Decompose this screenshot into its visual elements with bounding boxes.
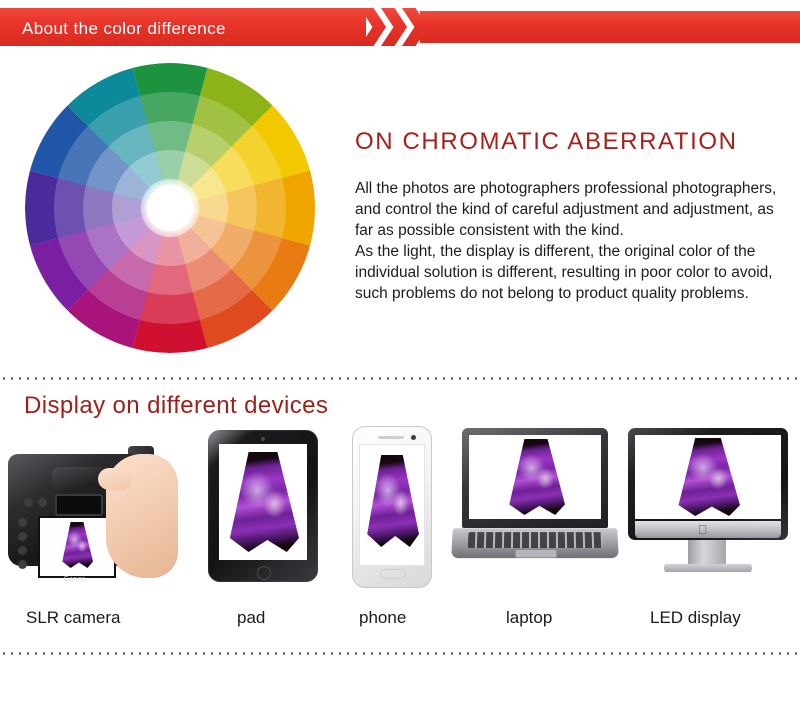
- laptop-screen: [469, 435, 601, 519]
- color-wheel: [25, 63, 315, 353]
- monitor-bezel: : [628, 428, 788, 540]
- dslr-camera-icon: Canon: [2, 424, 184, 604]
- aberration-paragraph-2: As the light, the display is different, …: [355, 241, 785, 304]
- devices-row: Canon: [0, 424, 800, 604]
- finger: [98, 468, 132, 490]
- device-label-laptop: laptop: [506, 608, 552, 628]
- about-color-difference-banner: About the color difference: [0, 8, 800, 46]
- camera-lcd-screen: [38, 516, 116, 578]
- camera-button: [18, 560, 27, 569]
- camera-pentaprism: [52, 467, 104, 493]
- page-title: ON CHROMATIC ABERRATION: [355, 128, 785, 156]
- monitor-stand-neck: [688, 540, 726, 566]
- devices-section-title: Display on different devices: [24, 392, 328, 420]
- phone-home-button: [380, 569, 406, 579]
- phone-body: [352, 426, 432, 588]
- device-label-slr-camera: SLR camera: [26, 608, 120, 628]
- phone-camera: [411, 435, 416, 440]
- device-label-led-display: LED display: [650, 608, 741, 628]
- laptop-trackpad: [515, 549, 557, 558]
- banner-bar-right: [420, 11, 800, 43]
- device-label-phone: phone: [359, 608, 406, 628]
- camera-button: [24, 498, 33, 507]
- divider-top: [0, 377, 800, 380]
- monitor-stand-foot: [664, 564, 752, 572]
- camera-brand-label: Canon: [49, 576, 101, 583]
- desktop-monitor-icon: : [620, 424, 796, 604]
- product-artwork: [227, 452, 299, 552]
- laptop-icon: [452, 424, 618, 604]
- tablet-home-button: [257, 566, 271, 580]
- banner-title: About the color difference: [22, 19, 226, 39]
- phone-speaker: [378, 436, 404, 439]
- smartphone-icon: [344, 424, 436, 604]
- laptop-keyboard: [468, 532, 602, 548]
- product-artwork: [61, 522, 93, 568]
- camera-button: [18, 546, 27, 555]
- color-wheel-center: [147, 185, 193, 231]
- camera-button: [18, 518, 27, 527]
- aberration-paragraph-1: All the photos are photographers profess…: [355, 178, 785, 241]
- tablet-camera: [261, 437, 265, 441]
- camera-viewfinder: [55, 494, 103, 516]
- tablet-screen: [219, 444, 307, 560]
- product-artwork: [676, 438, 740, 516]
- camera-button: [18, 532, 27, 541]
- device-labels: SLR camera pad phone laptop LED display: [0, 608, 800, 640]
- divider-bottom: [0, 652, 800, 655]
- camera-button: [38, 498, 47, 507]
- tablet-icon: [200, 424, 326, 604]
- product-artwork: [365, 455, 419, 547]
- apple-logo-icon: : [696, 523, 709, 537]
- laptop-base: [451, 528, 619, 558]
- laptop-lid: [462, 428, 608, 528]
- tablet-body: [208, 430, 318, 582]
- chromatic-aberration-block: ON CHROMATIC ABERRATION All the photos a…: [355, 128, 785, 304]
- product-artwork: [507, 439, 565, 515]
- monitor-screen: [635, 435, 781, 519]
- device-label-pad: pad: [237, 608, 265, 628]
- phone-screen: [359, 444, 425, 566]
